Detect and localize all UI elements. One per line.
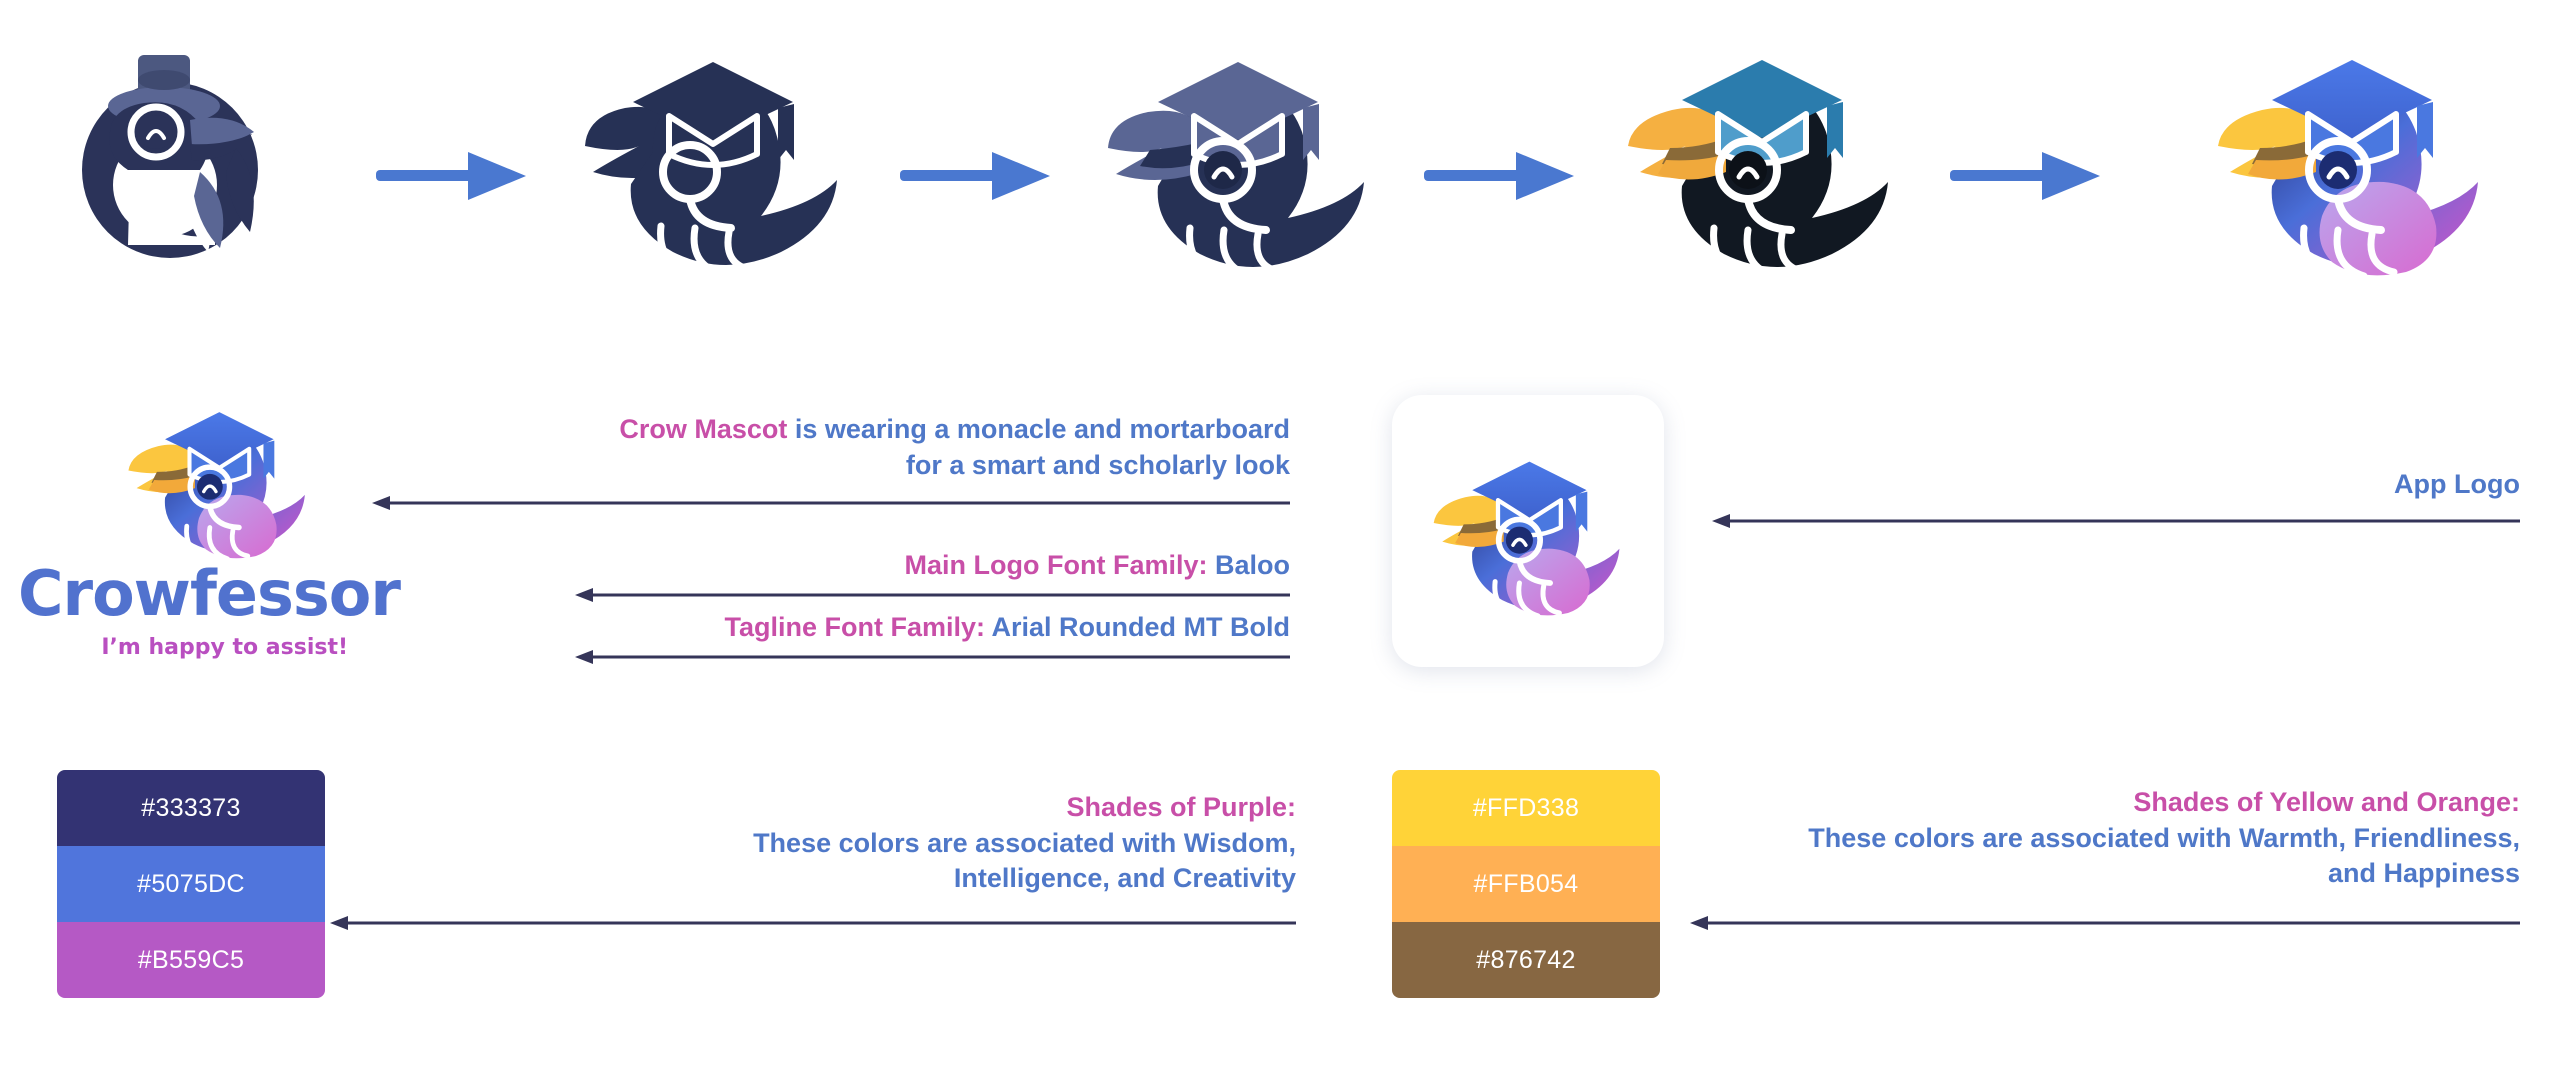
logo-evolution-row (0, 20, 2560, 300)
annotation-arrow-app-logo (1712, 512, 2520, 530)
swatch-warm-1: #FFB054 (1392, 846, 1660, 922)
right-arrow-icon (376, 140, 536, 210)
evolution-arrow-4 (1950, 140, 2110, 210)
annotation-tagline-font-rest: Arial Rounded MT Bold (985, 612, 1290, 642)
brand-mascot-logo (113, 385, 323, 575)
annotation-arrow-main-logo-font (575, 586, 1290, 604)
warm-palette-card: #FFD338 #FFB054 #876742 (1392, 770, 1660, 998)
tagline-text: I’m happy to assist! (18, 637, 348, 659)
swatch-label: #5075DC (137, 870, 245, 899)
swatch-purple-2: #B559C5 (57, 922, 325, 998)
gradient-crow-mascot-icon (2200, 20, 2500, 300)
annotation-arrow-warm (1690, 914, 2520, 932)
crow-blue-mortarboard-icon (1090, 20, 1390, 300)
swatch-label: #876742 (1476, 946, 1575, 975)
dark-crow-mortarboard-icon (565, 20, 865, 300)
app-logo-card (1392, 395, 1664, 667)
swatch-label: #FFB054 (1474, 870, 1579, 899)
annotation-main-logo-font-highlight: Main Logo Font Family: (905, 550, 1208, 580)
left-arrow-icon (1690, 914, 2520, 932)
left-arrow-icon (1712, 512, 2520, 530)
left-arrow-icon (575, 586, 1290, 604)
annotation-mascot: Crow Mascot is wearing a monacle and mor… (590, 412, 1290, 483)
annotation-purple: Shades of Purple: These colors are assoc… (600, 790, 1296, 897)
annotation-arrow-purple (330, 914, 1296, 932)
left-arrow-icon (330, 914, 1296, 932)
swatch-label: #FFD338 (1473, 794, 1579, 823)
annotation-warm: Shades of Yellow and Orange: These color… (1760, 785, 2520, 892)
annotation-warm-rest: These colors are associated with Warmth,… (1808, 823, 2520, 889)
evolution-arrow-2 (900, 140, 1060, 210)
left-arrow-icon (372, 494, 1290, 512)
evolution-arrow-3 (1424, 140, 1584, 210)
evolution-stage-3 (1090, 20, 1390, 300)
annotation-mascot-rest: is wearing a monacle and mortarboard for… (787, 414, 1290, 480)
swatch-label: #333373 (141, 794, 240, 823)
annotation-app-logo: App Logo (1720, 467, 2520, 503)
swatch-warm-2: #876742 (1392, 922, 1660, 998)
annotation-mascot-highlight: Crow Mascot (619, 414, 787, 444)
evolution-arrow-1 (376, 140, 536, 210)
annotation-tagline-font: Tagline Font Family: Arial Rounded MT Bo… (590, 610, 1290, 646)
evolution-stage-2 (565, 20, 865, 300)
crow-with-top-hat-icon (40, 20, 340, 300)
evolution-stage-1 (40, 20, 340, 300)
annotation-arrow-tagline-font (575, 648, 1290, 666)
annotation-app-logo-label: App Logo (2394, 469, 2520, 499)
annotation-main-logo-font: Main Logo Font Family: Baloo (590, 548, 1290, 584)
swatch-purple-0: #333373 (57, 770, 325, 846)
swatch-warm-0: #FFD338 (1392, 770, 1660, 846)
evolution-stage-4 (1610, 20, 1910, 300)
brand-lockup: Crowfessor I’m happy to assist! (18, 385, 358, 685)
evolution-stage-5 (2200, 20, 2500, 300)
annotation-main-logo-font-rest: Baloo (1207, 550, 1290, 580)
app-logo-mascot (1418, 433, 1638, 633)
wordmark-crowfessor: Crowfessor (18, 563, 358, 625)
swatch-label: #B559C5 (138, 946, 244, 975)
annotation-arrow-mascot (372, 494, 1290, 512)
right-arrow-icon (900, 140, 1060, 210)
black-crow-orange-beak-icon (1610, 20, 1910, 300)
purple-palette-card: #333373 #5075DC #B559C5 (57, 770, 325, 998)
right-arrow-icon (1424, 140, 1584, 210)
left-arrow-icon (575, 648, 1290, 666)
swatch-purple-1: #5075DC (57, 846, 325, 922)
annotation-tagline-font-highlight: Tagline Font Family: (725, 612, 986, 642)
gradient-crow-mascot-icon (113, 385, 323, 575)
right-arrow-icon (1950, 140, 2110, 210)
annotation-warm-highlight: Shades of Yellow and Orange: (2133, 787, 2520, 817)
gradient-crow-mascot-icon (1418, 433, 1638, 633)
annotation-purple-rest: These colors are associated with Wisdom,… (753, 828, 1296, 894)
annotation-purple-highlight: Shades of Purple: (1066, 792, 1296, 822)
